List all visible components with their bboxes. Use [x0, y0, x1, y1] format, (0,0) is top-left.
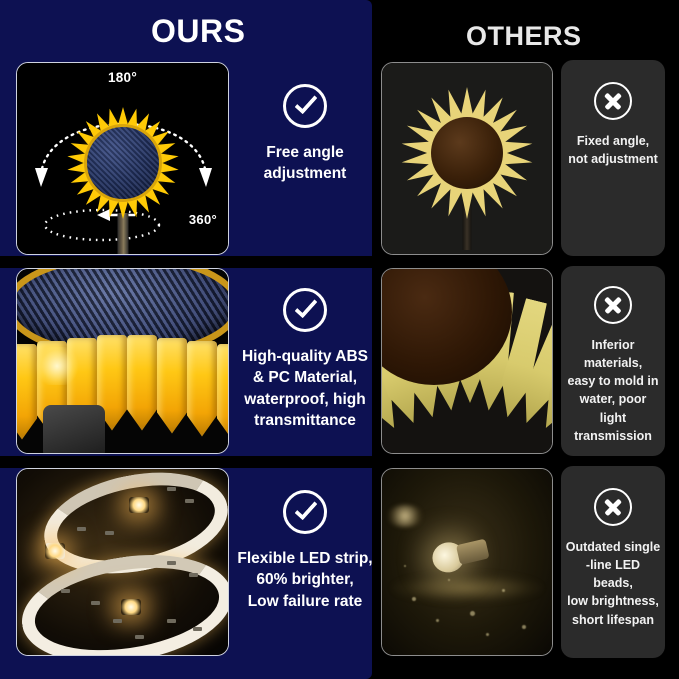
- comparison-infographic: OURS OTHERS 180° 360°: [0, 0, 679, 679]
- plastic-base: [43, 405, 105, 454]
- row-gutter-1: [0, 256, 372, 268]
- water-droplet: [470, 611, 475, 616]
- others-feature-text-2: Inferior materials, easy to mold in wate…: [561, 336, 665, 445]
- others-image-panel-3: [381, 468, 553, 656]
- led-strip-coil-photo: [17, 469, 228, 655]
- water-droplet: [486, 633, 489, 636]
- ours-feature-line: High-quality ABS: [235, 346, 375, 367]
- solar-panel-macro-photo: [17, 269, 228, 453]
- sunflower-closeup-photo: [382, 269, 552, 453]
- ours-feature-line: transmittance: [235, 410, 375, 431]
- others-text-panel-2: Inferior materials, easy to mold in wate…: [561, 266, 665, 456]
- translucent-petal: [157, 338, 187, 434]
- led-light: [121, 599, 141, 615]
- water-droplet: [404, 565, 406, 567]
- water-droplet: [436, 619, 439, 622]
- others-feature-line: Outdated single: [565, 538, 661, 556]
- ours-feature-line: & PC Material,: [235, 367, 375, 388]
- ours-feature-line: Flexible LED strip,: [235, 548, 375, 569]
- led-solder-pad: [167, 561, 176, 565]
- ours-feature-text-3: Flexible LED strip, 60% brighter, Low fa…: [235, 548, 375, 612]
- ours-heading: OURS: [151, 14, 245, 48]
- others-feature-text-3: Outdated single -line LED beads, low bri…: [561, 538, 665, 629]
- check-icon: [283, 288, 327, 332]
- others-image-panel-2: [381, 268, 553, 454]
- translucent-petal: [187, 341, 217, 437]
- others-feature-line: transmission: [565, 427, 661, 445]
- petal-glow: [35, 347, 79, 385]
- flower-center: [431, 117, 503, 189]
- others-text-panel-1: Fixed angle, not adjustment: [561, 60, 665, 256]
- others-feature-line: Fixed angle,: [565, 132, 661, 150]
- others-feature-line: easy to mold in: [565, 372, 661, 390]
- ours-feature-text-1: Free angle adjustment: [235, 142, 375, 185]
- led-solder-pad: [91, 601, 100, 605]
- water-droplet: [502, 589, 505, 592]
- led-light: [45, 543, 65, 559]
- led-solder-pad: [185, 499, 194, 503]
- water-droplet: [522, 625, 526, 629]
- check-icon: [283, 84, 327, 128]
- others-feature-line: short lifespan: [565, 611, 661, 629]
- translucent-petal: [16, 344, 37, 440]
- led-solder-pad: [135, 635, 144, 639]
- others-feature-line: -line LED beads,: [565, 556, 661, 592]
- ours-text-panel-3: Flexible LED strip, 60% brighter, Low fa…: [235, 468, 375, 612]
- water-droplet: [412, 597, 416, 601]
- ours-feature-line: Free angle: [235, 142, 375, 163]
- ours-feature-line: adjustment: [235, 163, 375, 184]
- others-feature-line: water, poor light: [565, 390, 661, 426]
- led-solder-pad: [77, 527, 86, 531]
- dim-bulb: [429, 532, 496, 575]
- bulb-body: [456, 539, 490, 565]
- row-gutter-2: [0, 456, 372, 468]
- header: OURS OTHERS: [0, 0, 679, 62]
- background-light-blur: [386, 505, 424, 527]
- translucent-petal: [127, 335, 157, 431]
- ours-feature-text-2: High-quality ABS & PC Material, waterpro…: [235, 346, 375, 432]
- translucent-petal: [217, 344, 229, 440]
- sunflower-rotation-diagram: 180° 360°: [17, 63, 228, 254]
- ours-image-panel-2: [16, 268, 229, 454]
- ours-text-panel-2: High-quality ABS & PC Material, waterpro…: [235, 268, 375, 432]
- ours-feature-line: 60% brighter,: [235, 569, 375, 590]
- others-image-panel-1: [381, 62, 553, 255]
- sunflower-head: [401, 87, 533, 219]
- led-solder-pad: [105, 531, 114, 535]
- cross-icon: [594, 488, 632, 526]
- comparison-row-3: Flexible LED strip, 60% brighter, Low fa…: [0, 468, 679, 658]
- ours-feature-line: Low failure rate: [235, 591, 375, 612]
- cross-icon: [594, 82, 632, 120]
- solar-disc: [84, 124, 162, 202]
- plain-sunflower-photo: [382, 63, 552, 254]
- others-text-panel-3: Outdated single -line LED beads, low bri…: [561, 466, 665, 658]
- others-feature-text-1: Fixed angle, not adjustment: [561, 132, 665, 168]
- ours-feature-line: waterproof, high: [235, 389, 375, 410]
- led-solder-pad: [61, 589, 70, 593]
- others-feature-line: low brightness,: [565, 592, 661, 610]
- led-solder-pad: [189, 573, 198, 577]
- others-feature-line: not adjustment: [565, 150, 661, 168]
- others-feature-line: Inferior materials,: [565, 336, 661, 372]
- led-solder-pad: [167, 619, 176, 623]
- ours-image-panel-1: 180° 360°: [16, 62, 229, 255]
- ours-text-panel-1: Free angle adjustment: [235, 62, 375, 185]
- led-light: [129, 497, 149, 513]
- others-heading: OTHERS: [466, 19, 582, 53]
- water-droplet: [448, 579, 450, 581]
- ours-image-panel-3: [16, 468, 229, 656]
- check-icon: [283, 490, 327, 534]
- led-solder-pad: [113, 619, 122, 623]
- cross-icon: [594, 286, 632, 324]
- diagram-sunflower: [67, 107, 179, 219]
- comparison-row-1: 180° 360° Free an: [0, 62, 679, 256]
- dim-bulb-on-wet-ground-photo: [382, 469, 552, 655]
- diagram-stem: [117, 213, 128, 255]
- led-solder-pad: [167, 487, 176, 491]
- comparison-row-2: High-quality ABS & PC Material, waterpro…: [0, 268, 679, 456]
- led-solder-pad: [193, 627, 202, 631]
